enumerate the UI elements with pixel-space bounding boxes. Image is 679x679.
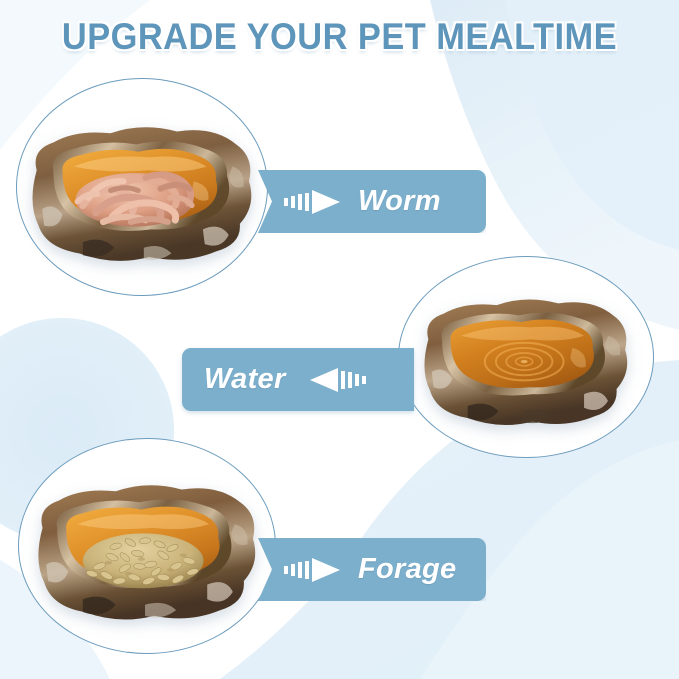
play-arrow-right-icon xyxy=(284,556,342,584)
product-feature-graphic: UPGRADE YOUR PET MEALTIME xyxy=(0,0,679,679)
bowl-image-water xyxy=(403,288,649,433)
bowl-image-forage xyxy=(23,473,271,629)
feature-label-worm: Worm xyxy=(358,185,441,218)
bowl-image-worm xyxy=(21,113,263,270)
feature-label-water: Water xyxy=(204,363,286,396)
feature-banner-water[interactable]: Water xyxy=(182,348,414,411)
feature-banner-forage[interactable]: Forage xyxy=(258,538,486,601)
play-arrow-right-icon xyxy=(284,188,342,216)
product-photo-forage xyxy=(18,438,276,654)
page-title: UPGRADE YOUR PET MEALTIME xyxy=(24,16,655,58)
product-photo-water xyxy=(398,256,654,458)
product-photo-worm xyxy=(16,78,268,296)
feature-banner-worm[interactable]: Worm xyxy=(258,170,486,233)
play-arrow-left-icon xyxy=(308,366,366,394)
feature-label-forage: Forage xyxy=(358,553,457,586)
